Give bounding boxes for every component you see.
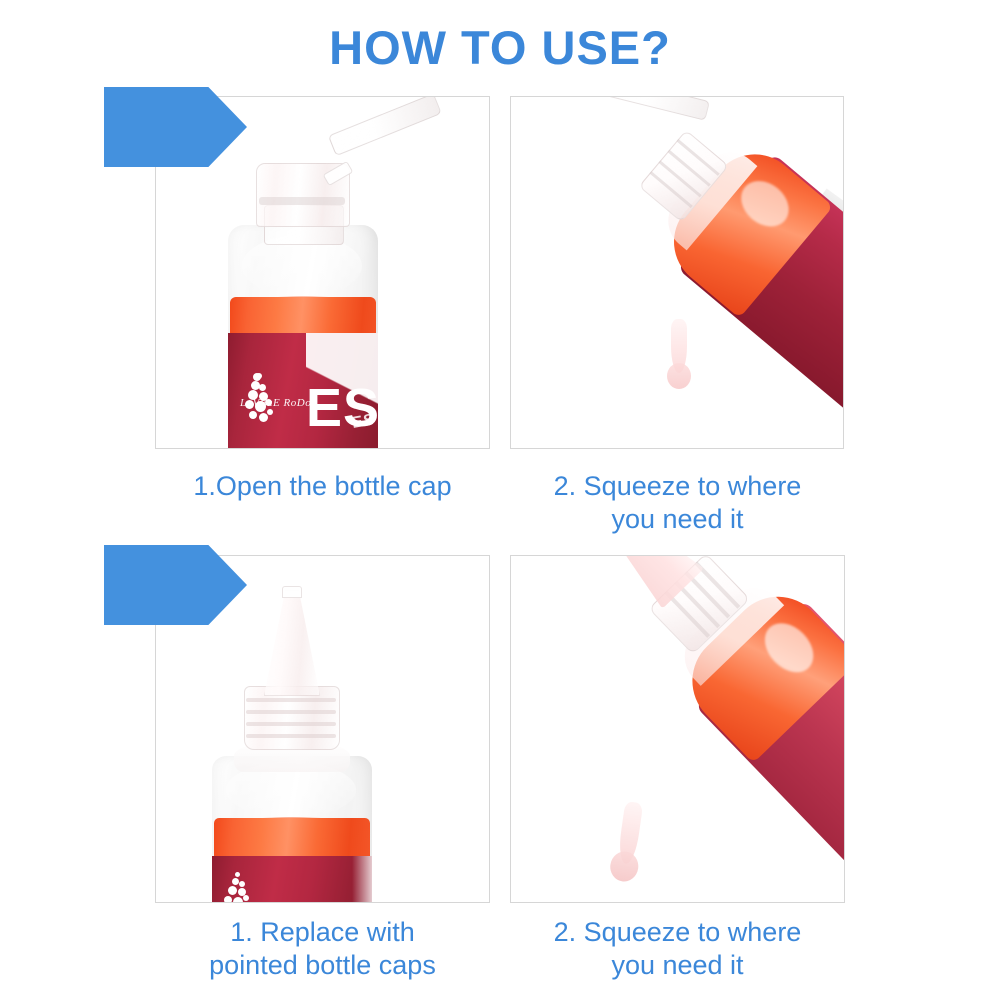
flip-lid-open xyxy=(598,97,710,121)
caption-line: 2. Squeeze to where xyxy=(500,916,855,949)
step-2-photo: ES H CHERRIES xyxy=(511,97,843,448)
step-4-caption: 2. Squeeze to where you need it xyxy=(500,916,855,982)
caption-line: 1. Replace with xyxy=(140,916,505,949)
caption-line: you need it xyxy=(500,949,855,982)
pointed-nozzle-cap xyxy=(264,590,320,696)
nozzle-tip xyxy=(282,586,302,598)
label-edge xyxy=(352,856,374,902)
collar-ridge xyxy=(246,698,336,702)
step-2-image-panel: ES H CHERRIES xyxy=(510,96,844,449)
tilted-bottle xyxy=(544,556,844,902)
collar-ridge xyxy=(246,722,336,726)
collar-ridge xyxy=(246,734,336,738)
cap-ridge xyxy=(259,197,345,205)
bubble-droplet-logo xyxy=(222,872,252,902)
step-4-photo xyxy=(511,556,844,902)
step-3-caption: 1. Replace with pointed bottle caps xyxy=(140,916,505,982)
step-2-caption: 2. Squeeze to where you need it xyxy=(500,470,855,536)
dispensed-gel-drip xyxy=(617,801,643,865)
step-1-caption: 1.Open the bottle cap xyxy=(140,470,505,503)
flip-lid-open xyxy=(328,97,442,156)
brand-script-text: LoVEaE RoDo xyxy=(240,397,311,409)
caption-line: pointed bottle caps xyxy=(140,949,505,982)
collar-ridge xyxy=(246,710,336,714)
caption-line: 1.Open the bottle cap xyxy=(140,470,505,503)
falling-droplet xyxy=(671,319,687,373)
tilted-bottle xyxy=(549,97,843,448)
caption-line: you need it xyxy=(500,503,855,536)
step-4-image-panel xyxy=(510,555,845,903)
page-title: HOW TO USE? xyxy=(0,22,1000,74)
caption-line: 2. Squeeze to where xyxy=(500,470,855,503)
